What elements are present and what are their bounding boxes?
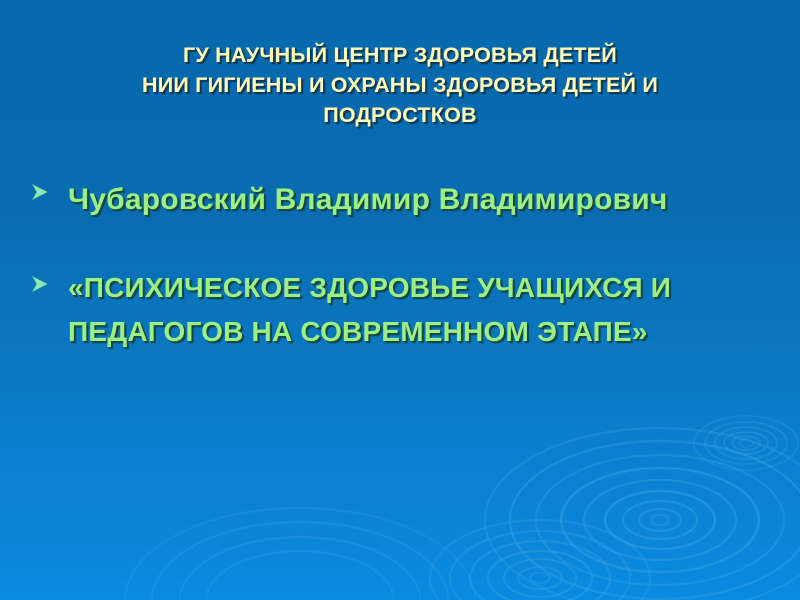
bullet-list: Чубаровский Владимир Владимирович «ПСИХИ… xyxy=(0,176,800,380)
arrowhead-bullet-icon xyxy=(30,182,50,202)
bullet-item-label: Чубаровский Владимир Владимирович xyxy=(68,176,800,224)
slide-title: ГУ НАУЧНЫЙ ЦЕНТР ЗДОРОВЬЯ ДЕТЕЙ НИИ ГИГИ… xyxy=(60,40,740,130)
presentation-slide: ГУ НАУЧНЫЙ ЦЕНТР ЗДОРОВЬЯ ДЕТЕЙ НИИ ГИГИ… xyxy=(0,0,800,600)
bullet-item-author: Чубаровский Владимир Владимирович xyxy=(0,176,800,224)
slide-content: ГУ НАУЧНЫЙ ЦЕНТР ЗДОРОВЬЯ ДЕТЕЙ НИИ ГИГИ… xyxy=(0,0,800,600)
arrowhead-bullet-icon xyxy=(30,274,50,294)
bullet-item-label: «ПСИХИЧЕСКОЕ ЗДОРОВЬЕ УЧАЩИХСЯ И ПЕДАГОГ… xyxy=(68,266,800,354)
bullet-item-topic: «ПСИХИЧЕСКОЕ ЗДОРОВЬЕ УЧАЩИХСЯ И ПЕДАГОГ… xyxy=(0,266,800,354)
